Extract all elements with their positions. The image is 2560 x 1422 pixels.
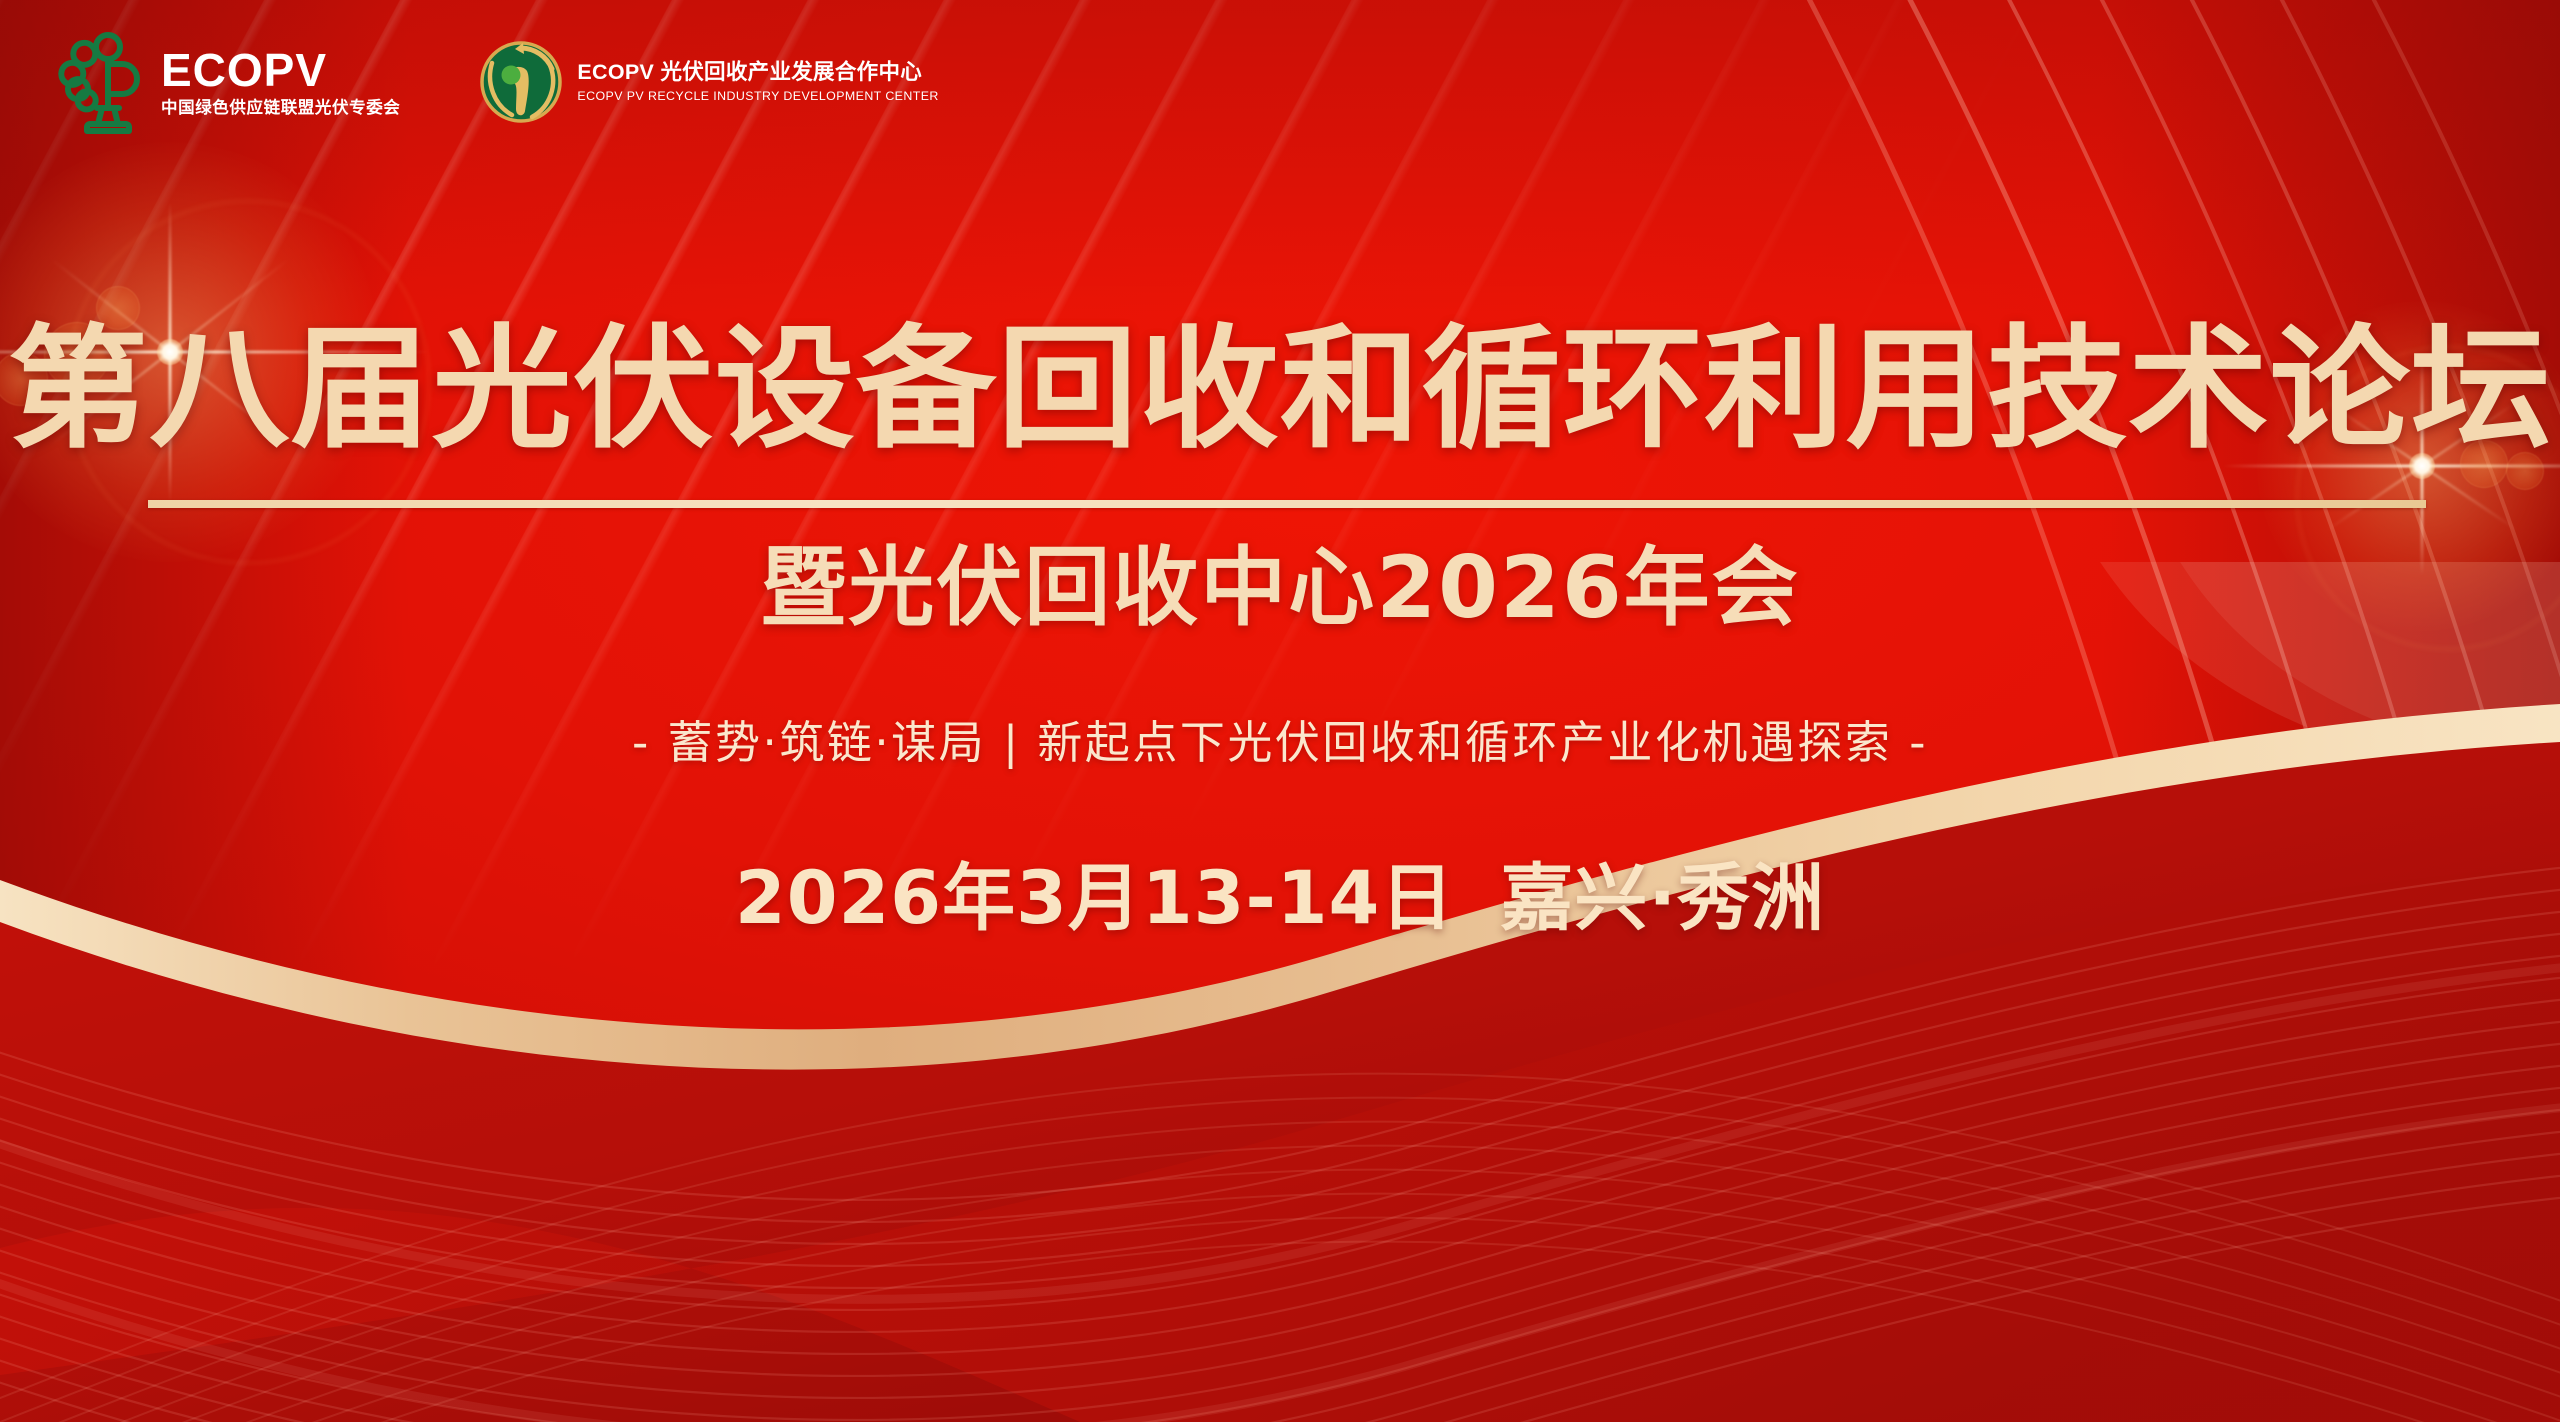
event-subtitle: 暨光伏回收中心2026年会 (0, 545, 2560, 631)
logo-brand-text: ECOPV (161, 47, 400, 93)
logo-row: ECOPV 中国绿色供应链联盟光伏专委会 ECOPV 光伏回收产业发展合作中心 … (56, 30, 939, 134)
logo-ecopv-china-green-supply-chain[interactable]: ECOPV 中国绿色供应链联盟光伏专委会 (56, 30, 400, 134)
logo-subtitle-text: ECOPV PV RECYCLE INDUSTRY DEVELOPMENT CE… (577, 90, 938, 102)
event-tagline: - 蓄势·筑链·谋局 | 新起点下光伏回收和循环产业化机遇探索 - (0, 720, 2560, 765)
event-date-location: 2026年3月13-14日嘉兴·秀洲 (0, 862, 2560, 935)
logo-brand-text: ECOPV 光伏回收产业发展合作中心 (577, 62, 938, 84)
event-location: 嘉兴·秀洲 (1500, 856, 1825, 941)
title-divider-rule (148, 500, 2426, 508)
event-title: 第八届光伏设备回收和循环利用技术论坛 (0, 324, 2560, 457)
decorative-wave-band (0, 562, 2560, 1422)
event-poster: ECOPV 中国绿色供应链联盟光伏专委会 ECOPV 光伏回收产业发展合作中心 … (0, 0, 2560, 1422)
logo-subtitle-text: 中国绿色供应链联盟光伏专委会 (161, 100, 400, 117)
logo-ecopv-pv-recycle-center[interactable]: ECOPV 光伏回收产业发展合作中心 ECOPV PV RECYCLE INDU… (478, 39, 938, 125)
event-date: 2026年3月13-14日 (735, 856, 1454, 941)
trophy-emblem-icon (56, 30, 148, 134)
recycle-circle-emblem-icon (478, 39, 564, 125)
